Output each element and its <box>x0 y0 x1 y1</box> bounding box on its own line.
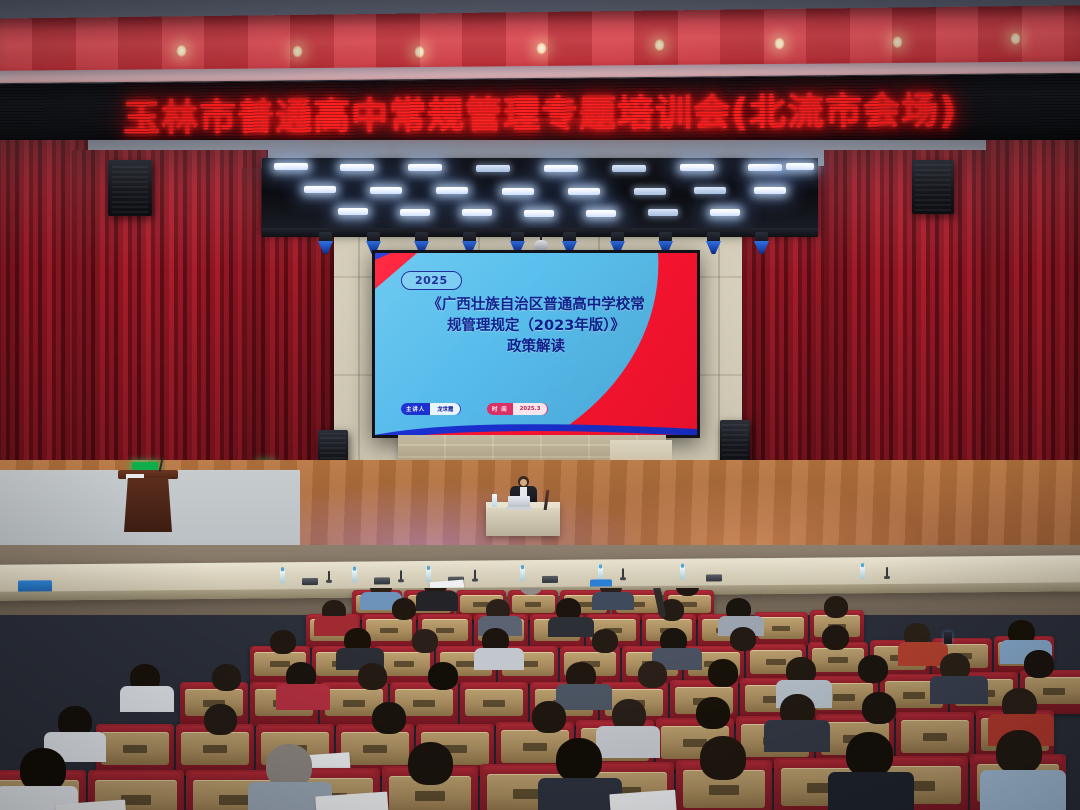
audience-shoulders <box>828 772 914 810</box>
led-lightbar <box>524 210 554 217</box>
slide-surface: 2025 《广西壮族自治区普通高中学校常 规管理规定（2023年版）》 政策解读… <box>375 253 697 435</box>
lectern-body <box>124 478 172 532</box>
water-bottle-icon <box>860 566 865 579</box>
audience-head <box>204 704 237 735</box>
audience-head <box>996 730 1042 774</box>
led-lightbar <box>694 187 726 194</box>
audience-head <box>696 697 730 729</box>
name-plate <box>374 577 390 584</box>
slide-presenter-badge: 主讲人 龙世霞 <box>401 403 461 415</box>
table-microphone-icon <box>886 567 888 578</box>
time-badge-key: 时 间 <box>487 403 513 415</box>
led-lightbar <box>754 187 786 194</box>
name-plate <box>542 576 558 583</box>
led-lightbar <box>748 164 782 171</box>
table-microphone-icon <box>474 570 476 581</box>
stage-side-speaker-icon <box>720 420 750 464</box>
water-bottle-icon <box>520 568 525 581</box>
led-lightbar <box>304 186 336 193</box>
water-bottle-icon <box>492 494 497 507</box>
led-lightbar <box>634 188 666 195</box>
led-lightbar <box>400 209 430 216</box>
slide-title-line-3: 政策解读 <box>387 337 685 358</box>
led-lightbar <box>648 209 678 216</box>
downlight <box>774 37 785 50</box>
laptop-icon <box>506 496 532 510</box>
audience-head <box>270 630 296 654</box>
audience-head <box>858 655 888 683</box>
audience-head <box>700 736 746 780</box>
led-lightbar <box>338 208 368 215</box>
par-light-icon <box>754 232 769 254</box>
led-lightbar <box>274 163 308 170</box>
downlight <box>1010 32 1021 45</box>
water-bottle-icon <box>426 569 431 582</box>
slide-title: 《广西壮族自治区普通高中学校常 规管理规定（2023年版）》 政策解读 <box>387 295 685 358</box>
auditorium-seat <box>96 724 174 776</box>
audience-shoulders <box>556 684 612 710</box>
audience-head <box>428 662 458 690</box>
downlight <box>292 45 303 58</box>
led-lightbar <box>710 209 740 216</box>
lectern <box>120 470 176 532</box>
audience-head <box>824 596 848 618</box>
audience-shoulders <box>416 591 458 611</box>
audience-head <box>1024 650 1054 678</box>
downlight <box>176 44 187 57</box>
led-lightbar <box>680 164 714 171</box>
led-lightbar <box>340 164 374 171</box>
audience-shoulders <box>120 686 174 712</box>
slide-title-line-2: 规管理规定（2023年版）》 <box>447 318 625 334</box>
audience-head <box>408 742 453 785</box>
audience-seating <box>0 588 1080 810</box>
audience-head <box>372 702 406 734</box>
slide-time-badge: 时 间 2025.3 <box>487 403 548 415</box>
hanging-speaker-icon <box>108 160 152 216</box>
audience-shoulders <box>474 648 524 670</box>
led-lightbar <box>568 188 600 195</box>
time-badge-value: 2025.3 <box>513 403 549 415</box>
audience-shoulders <box>276 684 330 710</box>
audience-shoulders <box>592 592 634 610</box>
slide-title-line-1: 《广西壮族自治区普通高中学校常 <box>427 297 645 313</box>
auditorium-photo: 玉林市普通高中常规管理专题培训会(北流市会场) <box>0 0 1080 810</box>
audience-head <box>532 701 566 733</box>
lightbar-row-1 <box>262 163 818 177</box>
notes-paper <box>609 790 676 810</box>
lighting-truss <box>262 158 818 232</box>
lightbar-row-3 <box>262 208 818 222</box>
led-lightbar <box>786 163 814 170</box>
audience-head <box>392 598 416 620</box>
led-lightbar <box>370 187 402 194</box>
slide-year-badge: 2025 <box>401 271 462 290</box>
led-lightbar <box>544 165 578 172</box>
audience-shoulders <box>930 676 988 704</box>
dome-camera-icon <box>534 232 548 252</box>
downlight <box>536 42 547 55</box>
led-lightbar <box>436 187 468 194</box>
par-light-icon <box>318 232 333 254</box>
desk-front-panel <box>486 508 560 536</box>
audience-shoulders <box>548 617 594 637</box>
audience-head <box>730 627 756 651</box>
water-bottle-icon <box>352 570 357 583</box>
led-lightbar <box>586 210 616 217</box>
presenter-badge-key: 主讲人 <box>401 403 430 415</box>
water-bottle-icon <box>680 567 685 580</box>
led-lightbar <box>612 165 646 172</box>
audience-head <box>358 663 387 690</box>
audience-head <box>212 664 241 691</box>
smartphone-icon[interactable] <box>944 632 952 644</box>
audience-shoulders <box>764 720 830 752</box>
table-microphone-icon <box>622 568 624 579</box>
water-bottle-icon <box>280 570 285 583</box>
table-microphone-icon <box>400 570 402 581</box>
auditorium-seat <box>460 682 528 726</box>
led-lightbar <box>408 164 442 171</box>
audience-head <box>592 629 618 653</box>
led-lightbar <box>502 188 534 195</box>
audience-head <box>412 629 438 653</box>
led-lightbar <box>462 209 492 216</box>
led-projection-screen: 2025 《广西壮族自治区普通高中学校常 规管理规定（2023年版）》 政策解读… <box>372 250 700 438</box>
downlight <box>892 36 903 49</box>
downlight <box>654 38 665 51</box>
table-microphone-icon <box>328 571 330 582</box>
audience-head <box>708 659 738 687</box>
par-light-icon <box>706 232 721 254</box>
audience-shoulders <box>596 726 660 758</box>
hanging-speaker-icon <box>912 160 954 214</box>
presenter-badge-value: 龙世霞 <box>430 403 461 415</box>
downlight <box>414 45 425 58</box>
led-banner: 玉林市普通高中常规管理专题培训会(北流市会场) <box>0 73 1080 150</box>
audience-head <box>638 661 667 688</box>
presenter-face <box>520 479 527 486</box>
audience-shoulders <box>980 770 1066 810</box>
audience-head <box>822 625 849 650</box>
slide-content: 2025 《广西壮族自治区普通高中学校常 规管理规定（2023年版）》 政策解读… <box>375 253 697 435</box>
banner-title-text: 玉林市普通高中常规管理专题培训会(北流市会场) <box>123 80 957 142</box>
led-lightbar <box>476 165 510 172</box>
audience-head <box>846 732 893 777</box>
audience-head <box>556 738 602 782</box>
lightbar-row-2 <box>262 186 818 200</box>
name-plate <box>706 574 722 581</box>
name-plate <box>302 578 318 585</box>
audience-head <box>862 692 896 724</box>
